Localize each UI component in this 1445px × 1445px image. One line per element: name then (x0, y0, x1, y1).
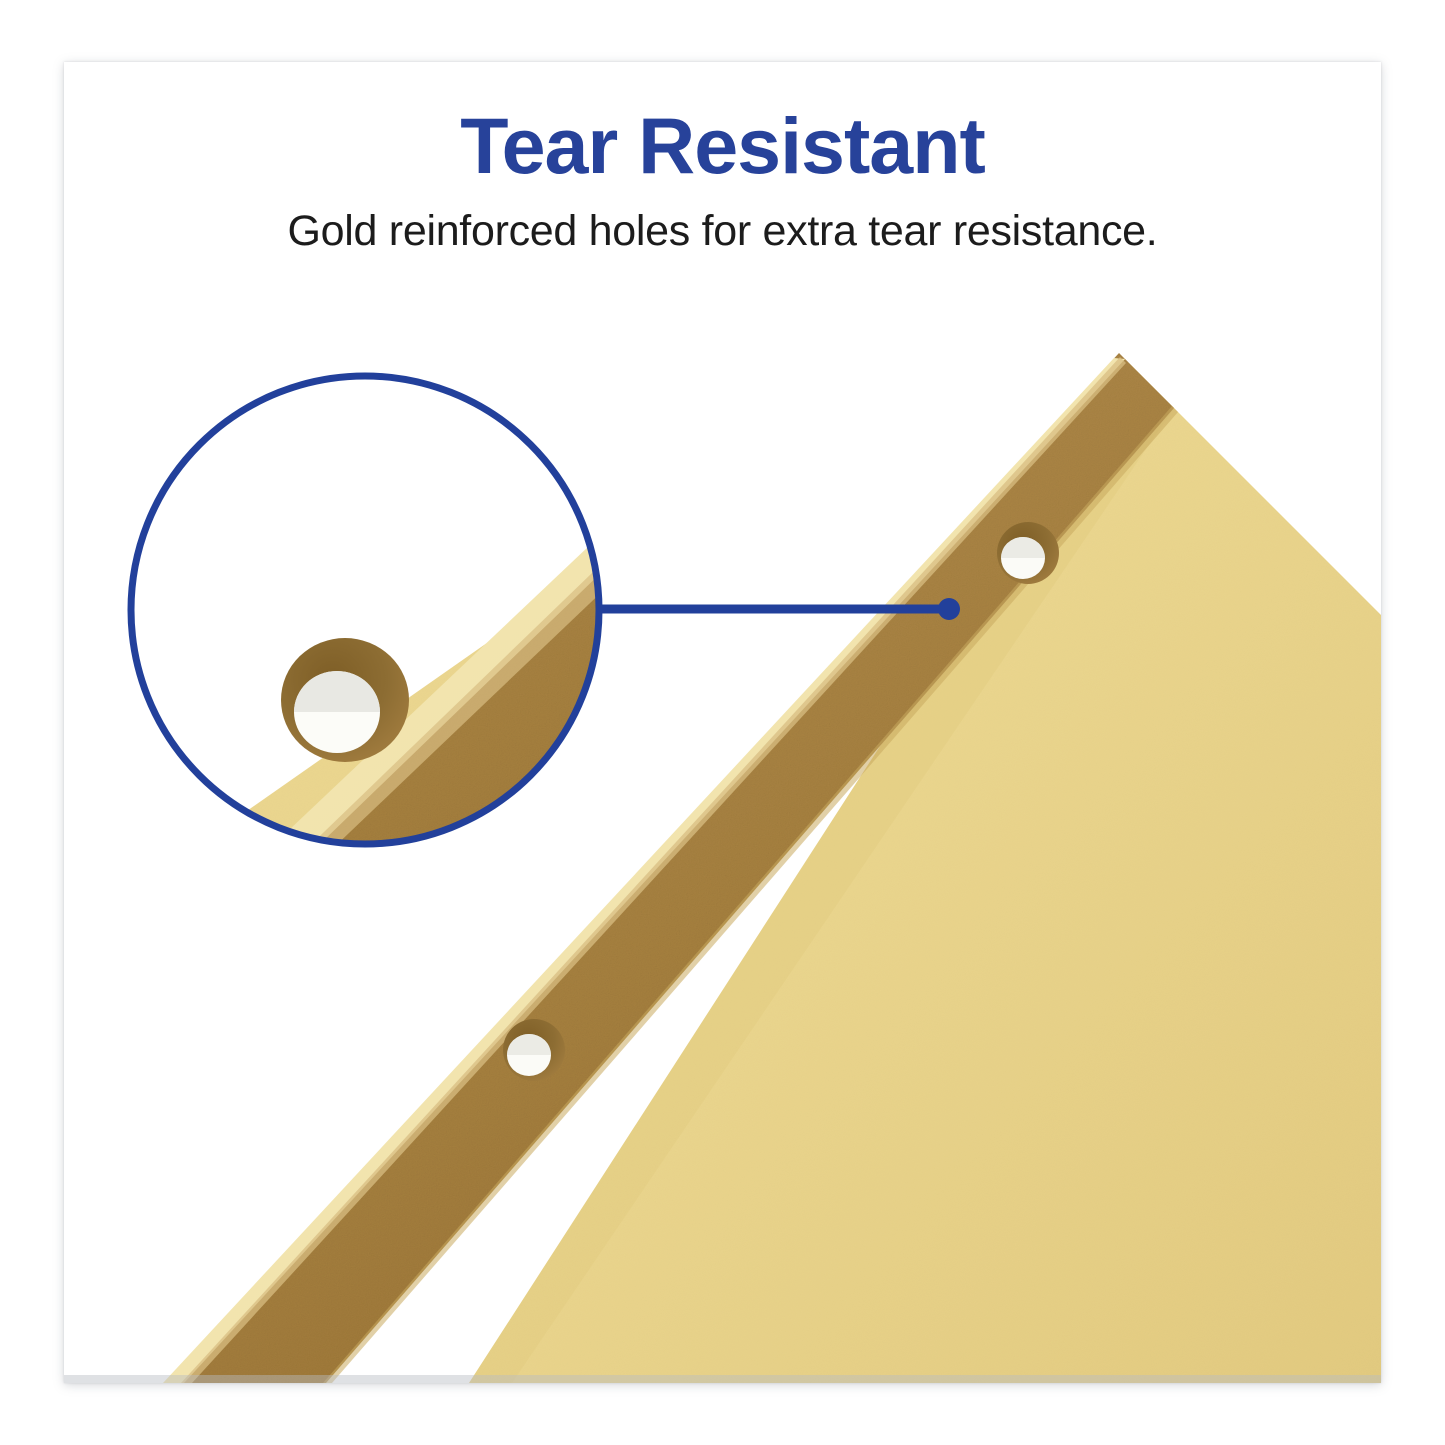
sheet-bottom-shadow (64, 1375, 1381, 1383)
product-artwork (64, 62, 1381, 1383)
page-subtitle: Gold reinforced holes for extra tear res… (64, 210, 1381, 253)
reinforced-hole-upper (997, 522, 1059, 584)
page-title: Tear Resistant (64, 106, 1381, 185)
callout-dot (938, 598, 960, 620)
screenshot-stage: Tear Resistant Gold reinforced holes for… (0, 0, 1445, 1445)
product-image-canvas: Tear Resistant Gold reinforced holes for… (64, 62, 1381, 1383)
lens-reinforced-hole (281, 638, 409, 762)
product-artwork-svg (64, 62, 1381, 1383)
reinforced-hole-lower (503, 1019, 565, 1081)
